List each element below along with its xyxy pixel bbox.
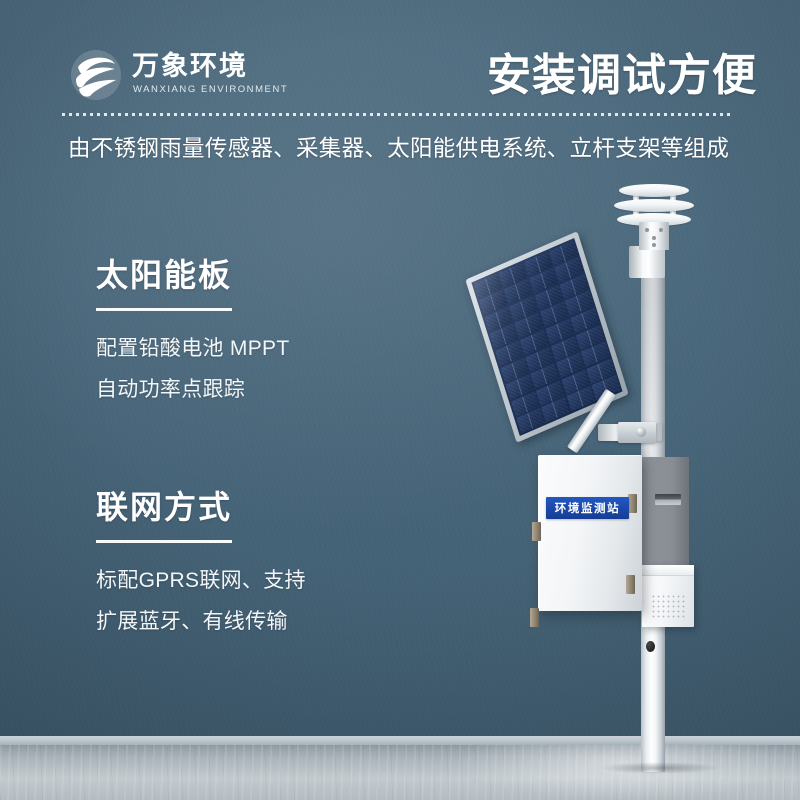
cabinet-hinge (626, 575, 635, 594)
sensor-disc (614, 199, 694, 212)
sensor-port-icon (659, 228, 663, 232)
sensor-port-icon (652, 243, 656, 247)
sensor-disc (619, 184, 689, 197)
ground-shadow (600, 762, 720, 774)
cabinet-hinge (628, 494, 637, 513)
cabinet-hinge (530, 608, 539, 627)
sensor-port-icon (645, 228, 649, 232)
cabinet-hinge (532, 522, 541, 541)
status-badge: 环境监测站 (546, 497, 629, 519)
sensor-port-icon (652, 236, 656, 240)
battery-box-lid (642, 565, 694, 576)
bracket-bolt-icon (636, 427, 646, 437)
product-illustration: 环境监测站 (0, 0, 800, 800)
battery-box-perforations (651, 594, 687, 618)
pole-bolt-icon (646, 641, 655, 652)
cabinet-label-text: 环境监测站 (555, 500, 621, 516)
banner-stage: 万象环境 WANXIANG ENVIRONMENT 安装调试方便 由不锈钢雨量传… (0, 0, 800, 800)
ultrasonic-weather-sensor (614, 182, 694, 252)
cabinet-vent-icon (655, 494, 681, 505)
